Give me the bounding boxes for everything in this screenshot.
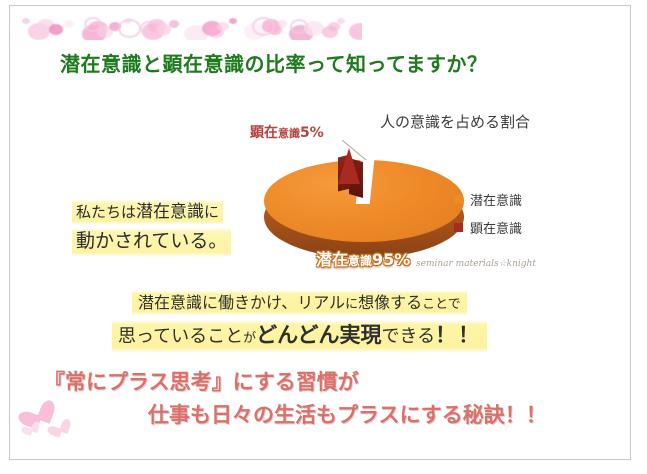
legend-item-subconscious: 潜在意識 [454, 190, 522, 209]
chart-label-conscious-lead: 顕在 [250, 125, 278, 141]
middle-message-line-2: 思っていることがどんどん実現できる！！ [112, 317, 487, 355]
bottom-message-line-2: 仕事も日々の生活もプラスにする秘訣！！ [148, 399, 547, 432]
pie-chart: 人の意識を占める割合 顕在意識5% 潜在意識95% 潜在意識 [242, 104, 572, 284]
middle-message-line-1: 潜在意識に働きかけ、リアルに想像することで [132, 288, 467, 317]
chart-label-conscious-mid: 意識 [278, 127, 300, 140]
middle-message-exclaim: ！！ [435, 323, 481, 347]
slide-canvas: 潜在意識と顕在意識の比率って知ってますか？ 人の意識を占める割合 顕在意識5% … [9, 5, 631, 460]
chart-label-subconscious-value: 95% [372, 250, 410, 269]
pie-slice-conscious [338, 148, 360, 184]
left-note-line-1-c: に [204, 203, 219, 221]
chart-legend: 潜在意識 顕在意識 [454, 190, 522, 246]
floral-band-decoration-icon [22, 14, 362, 40]
middle-message-line-1-c: に [345, 297, 358, 312]
middle-message-keyword-1: 潜在意識 [138, 293, 202, 312]
left-note: 私たちは潜在意識に 動かされている。 [72, 198, 231, 258]
left-note-line-1: 私たちは潜在意識に [72, 198, 223, 226]
middle-message-line-2-e: できる [382, 326, 436, 347]
middle-message-line-1-d: 想像する [358, 293, 422, 312]
chart-label-conscious-value: 5% [300, 125, 324, 141]
chart-label-subconscious: 潜在意識95% [316, 246, 410, 270]
bottom-message-line-1: 『常にプラス思考』にする習慣が [44, 370, 359, 394]
middle-message-line-2-c: どんどん [256, 323, 339, 347]
hearts-decoration-icon [26, 399, 106, 449]
page-title: 潜在意識と顕在意識の比率って知ってますか？ [60, 48, 488, 77]
left-note-keyword: 潜在意識 [136, 202, 204, 222]
left-note-line-2: 動かされている。 [72, 226, 231, 257]
legend-item-conscious: 顕在意識 [454, 218, 522, 237]
bottom-message: 『常にプラス思考』にする習慣が 仕事も日々の生活もプラスにする秘訣！！ [44, 366, 547, 431]
legend-label-conscious: 顕在意識 [470, 218, 522, 237]
legend-label-subconscious: 潜在意識 [470, 190, 522, 209]
middle-message-line-2-b: が [243, 331, 256, 346]
middle-message-keyword-2: 実現 [340, 323, 382, 347]
pie-graphic: 潜在意識95% [264, 146, 479, 276]
middle-message: 潜在意識に働きかけ、リアルに想像することで 思っていることがどんどん実現できる！… [132, 288, 487, 355]
legend-swatch-conscious-icon [454, 223, 463, 232]
chart-label-conscious: 顕在意識5% [250, 122, 324, 142]
middle-message-line-2-a: 思っていること [118, 326, 243, 347]
legend-swatch-subconscious-icon [454, 195, 463, 204]
middle-message-line-1-b: に働きかけ、リアル [202, 293, 345, 312]
chart-label-subconscious-lead: 潜在 [316, 250, 348, 269]
chart-label-subconscious-mid: 意識 [348, 254, 372, 268]
middle-message-line-1-e: ことで [422, 297, 461, 312]
left-note-line-1-a: 私たちは [76, 203, 136, 221]
chart-title: 人の意識を占める割合 [380, 111, 530, 132]
chart-watermark: seminar materials☆knight [416, 259, 536, 269]
